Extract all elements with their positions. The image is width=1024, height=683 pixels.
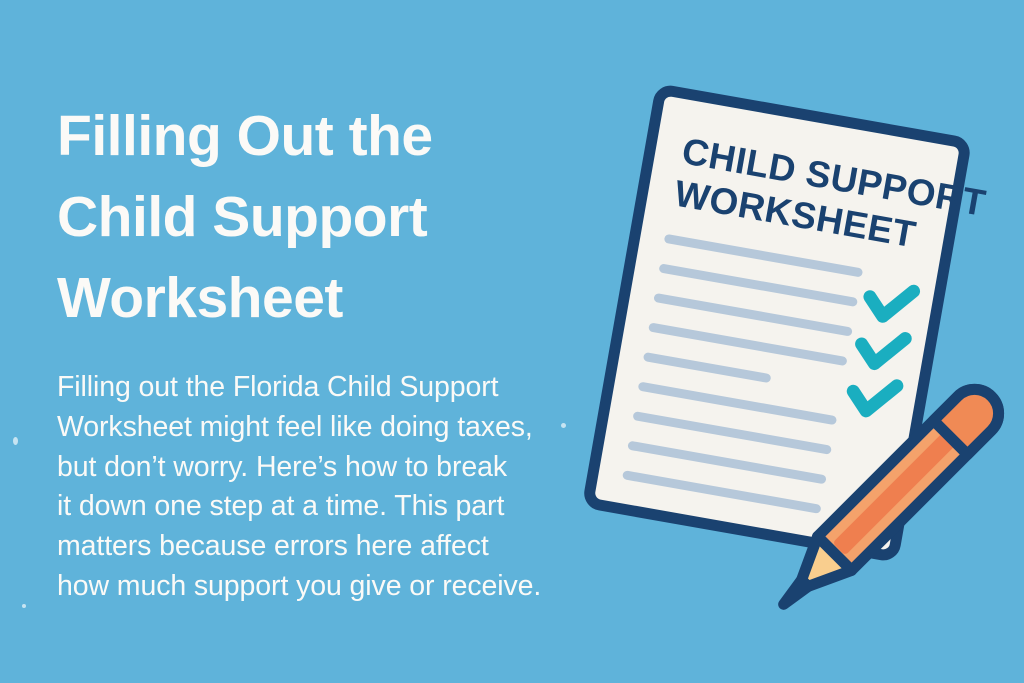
pencil-graphite-point	[780, 580, 808, 608]
decorative-speck	[22, 604, 26, 608]
page-title: Filling Out the Child Support Worksheet	[57, 96, 577, 339]
decorative-speck	[13, 437, 18, 445]
hero-banner: Filling Out the Child Support Worksheet …	[0, 0, 1024, 683]
hero-text-column: Filling Out the Child Support Worksheet …	[57, 96, 577, 607]
worksheet-illustration: CHILD SUPPORT WORKSHEET	[540, 70, 1024, 650]
page-description: Filling out the Florida Child Support Wo…	[57, 339, 577, 607]
